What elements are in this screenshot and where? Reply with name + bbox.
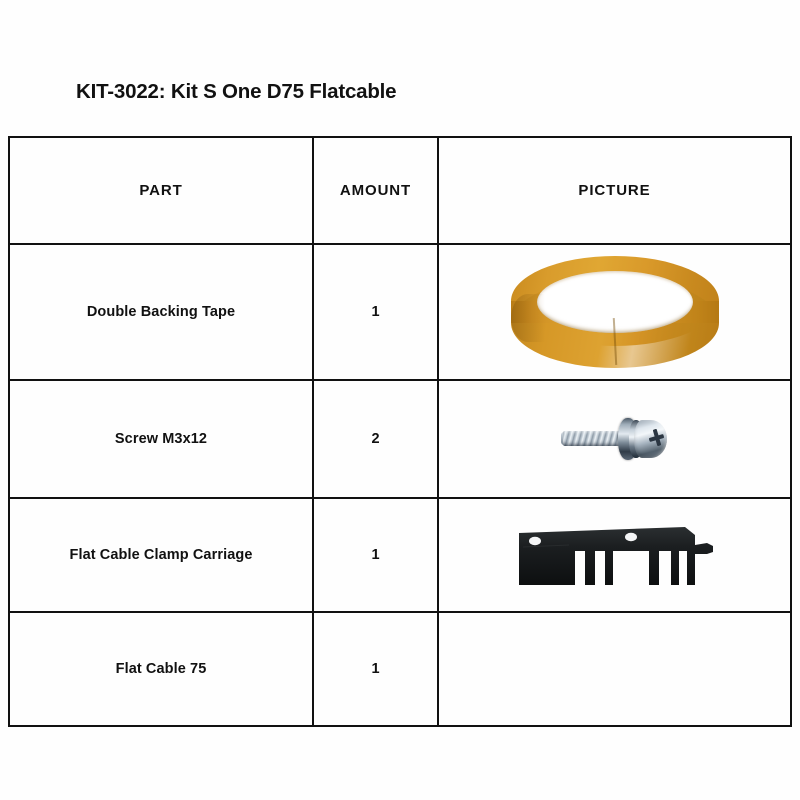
flat-cable-clamp-carriage-icon: [509, 521, 721, 589]
part-name-screw-m3x12: Screw M3x12: [9, 380, 313, 498]
column-header-part: PART: [9, 137, 313, 244]
part-name-double-backing-tape: Double Backing Tape: [9, 244, 313, 380]
table-header-row: PART AMOUNT PICTURE: [9, 137, 791, 244]
parts-list-page: KIT-3022: Kit S One D75 Flatcable PART A…: [0, 0, 800, 800]
column-header-picture: PICTURE: [438, 137, 791, 244]
table-row: Screw M3x12 2: [9, 380, 791, 498]
part-name-flat-cable-75: Flat Cable 75: [9, 612, 313, 726]
part-amount-flat-cable-clamp-carriage: 1: [313, 498, 438, 612]
part-name-flat-cable-clamp-carriage: Flat Cable Clamp Carriage: [9, 498, 313, 612]
part-picture-cell-screw-m3x12: [438, 380, 791, 498]
part-picture-cell-flat-cable-clamp-carriage: [438, 498, 791, 612]
part-amount-screw-m3x12: 2: [313, 380, 438, 498]
table-row: Double Backing Tape 1: [9, 244, 791, 380]
part-picture-cell-double-backing-tape: [438, 244, 791, 380]
screw-icon: [563, 416, 667, 462]
column-header-amount: AMOUNT: [313, 137, 438, 244]
part-amount-double-backing-tape: 1: [313, 244, 438, 380]
table-row: Flat Cable Clamp Carriage 1: [9, 498, 791, 612]
table-row: Flat Cable 75 1: [9, 612, 791, 726]
double-backing-tape-icon: [511, 256, 719, 368]
parts-table: PART AMOUNT PICTURE Double Backing Tape …: [8, 136, 792, 727]
part-amount-flat-cable-75: 1: [313, 612, 438, 726]
part-picture-cell-flat-cable-75: [438, 612, 791, 726]
page-title: KIT-3022: Kit S One D75 Flatcable: [76, 80, 396, 104]
